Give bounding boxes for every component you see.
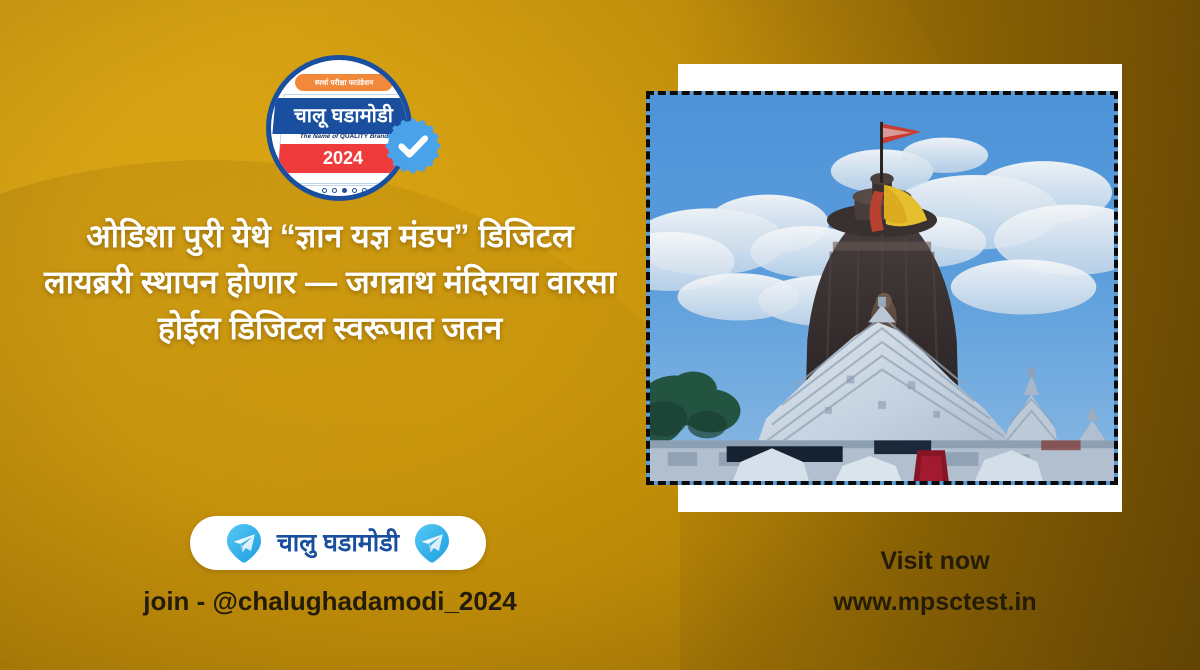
brand-logo-badge: स्पर्धा परीक्षा फाउंडेशन ® चालू घडामोडी … [266,55,442,201]
badge-dot [362,188,367,193]
poster-canvas: स्पर्धा परीक्षा फाउंडेशन ® चालू घडामोडी … [0,0,1200,670]
article-photo-card [646,64,1122,514]
badge-dot [342,188,347,193]
telegram-icon [223,522,265,564]
badge-dot [322,188,327,193]
badge-dot-row [271,188,412,193]
tagline-strong: QUALITY [340,133,369,140]
badge-underline [281,178,408,186]
verified-check-icon [384,117,442,175]
telegram-label: चालु घडामोडी [277,531,399,556]
photo-dashed-frame [646,91,1118,485]
foundation-pill: स्पर्धा परीक्षा फाउंडेशन ® [295,74,393,91]
page-title: ओडिशा पुरी येथे “ज्ञान यज्ञ मंडप” डिजिटल… [40,213,620,351]
website-url[interactable]: www.mpsctest.in [760,587,1110,617]
tagline-prefix: The Name of [299,133,340,140]
telegram-channel-button[interactable]: चालु घडामोडी [190,516,486,570]
telegram-join-handle[interactable]: join - @chalughadamodi_2024 [40,586,620,617]
jagannath-temple-puri-photo [650,95,1114,481]
visit-now-label: Visit now [760,546,1110,576]
brand-year: 2024 [323,148,363,169]
badge-dot [332,188,337,193]
telegram-icon [411,522,453,564]
foundation-label: स्पर्धा परीक्षा फाउंडेशन [315,78,373,88]
visit-cta-block: Visit now www.mpsctest.in [760,546,1110,617]
badge-dot [352,188,357,193]
registered-mark-icon: ® [386,75,390,81]
brand-name: चालू घडामोडी [294,106,393,126]
